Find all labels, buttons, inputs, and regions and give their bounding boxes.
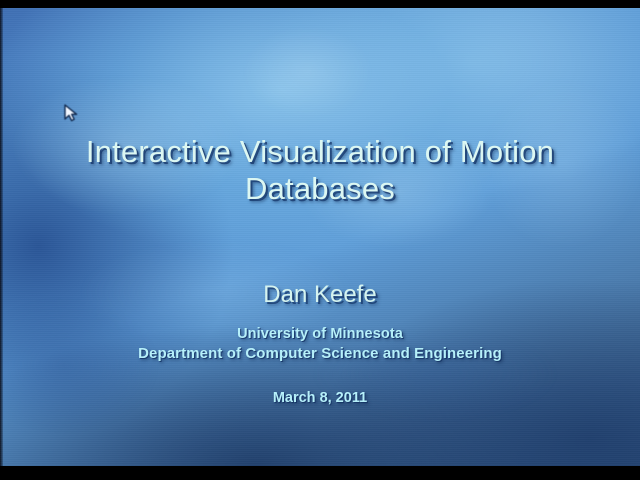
- video-frame[interactable]: Interactive Visualization of Motion Data…: [0, 8, 640, 466]
- slide-author-name: Dan Keefe: [0, 280, 640, 309]
- letterbox-bar-bottom: [0, 466, 640, 480]
- presentation-title-slide: Interactive Visualization of Motion Data…: [0, 8, 640, 466]
- slide-affiliation: University of Minnesota Department of Co…: [0, 325, 640, 363]
- affiliation-university: University of Minnesota: [0, 325, 640, 344]
- video-player-screen: Interactive Visualization of Motion Data…: [0, 0, 640, 480]
- letterbox-bar-top: [0, 0, 640, 8]
- affiliation-department: Department of Computer Science and Engin…: [0, 344, 640, 363]
- slide-date: March 8, 2011: [0, 389, 640, 408]
- slide-title: Interactive Visualization of Motion Data…: [40, 133, 600, 207]
- mouse-pointer-icon: [62, 103, 80, 123]
